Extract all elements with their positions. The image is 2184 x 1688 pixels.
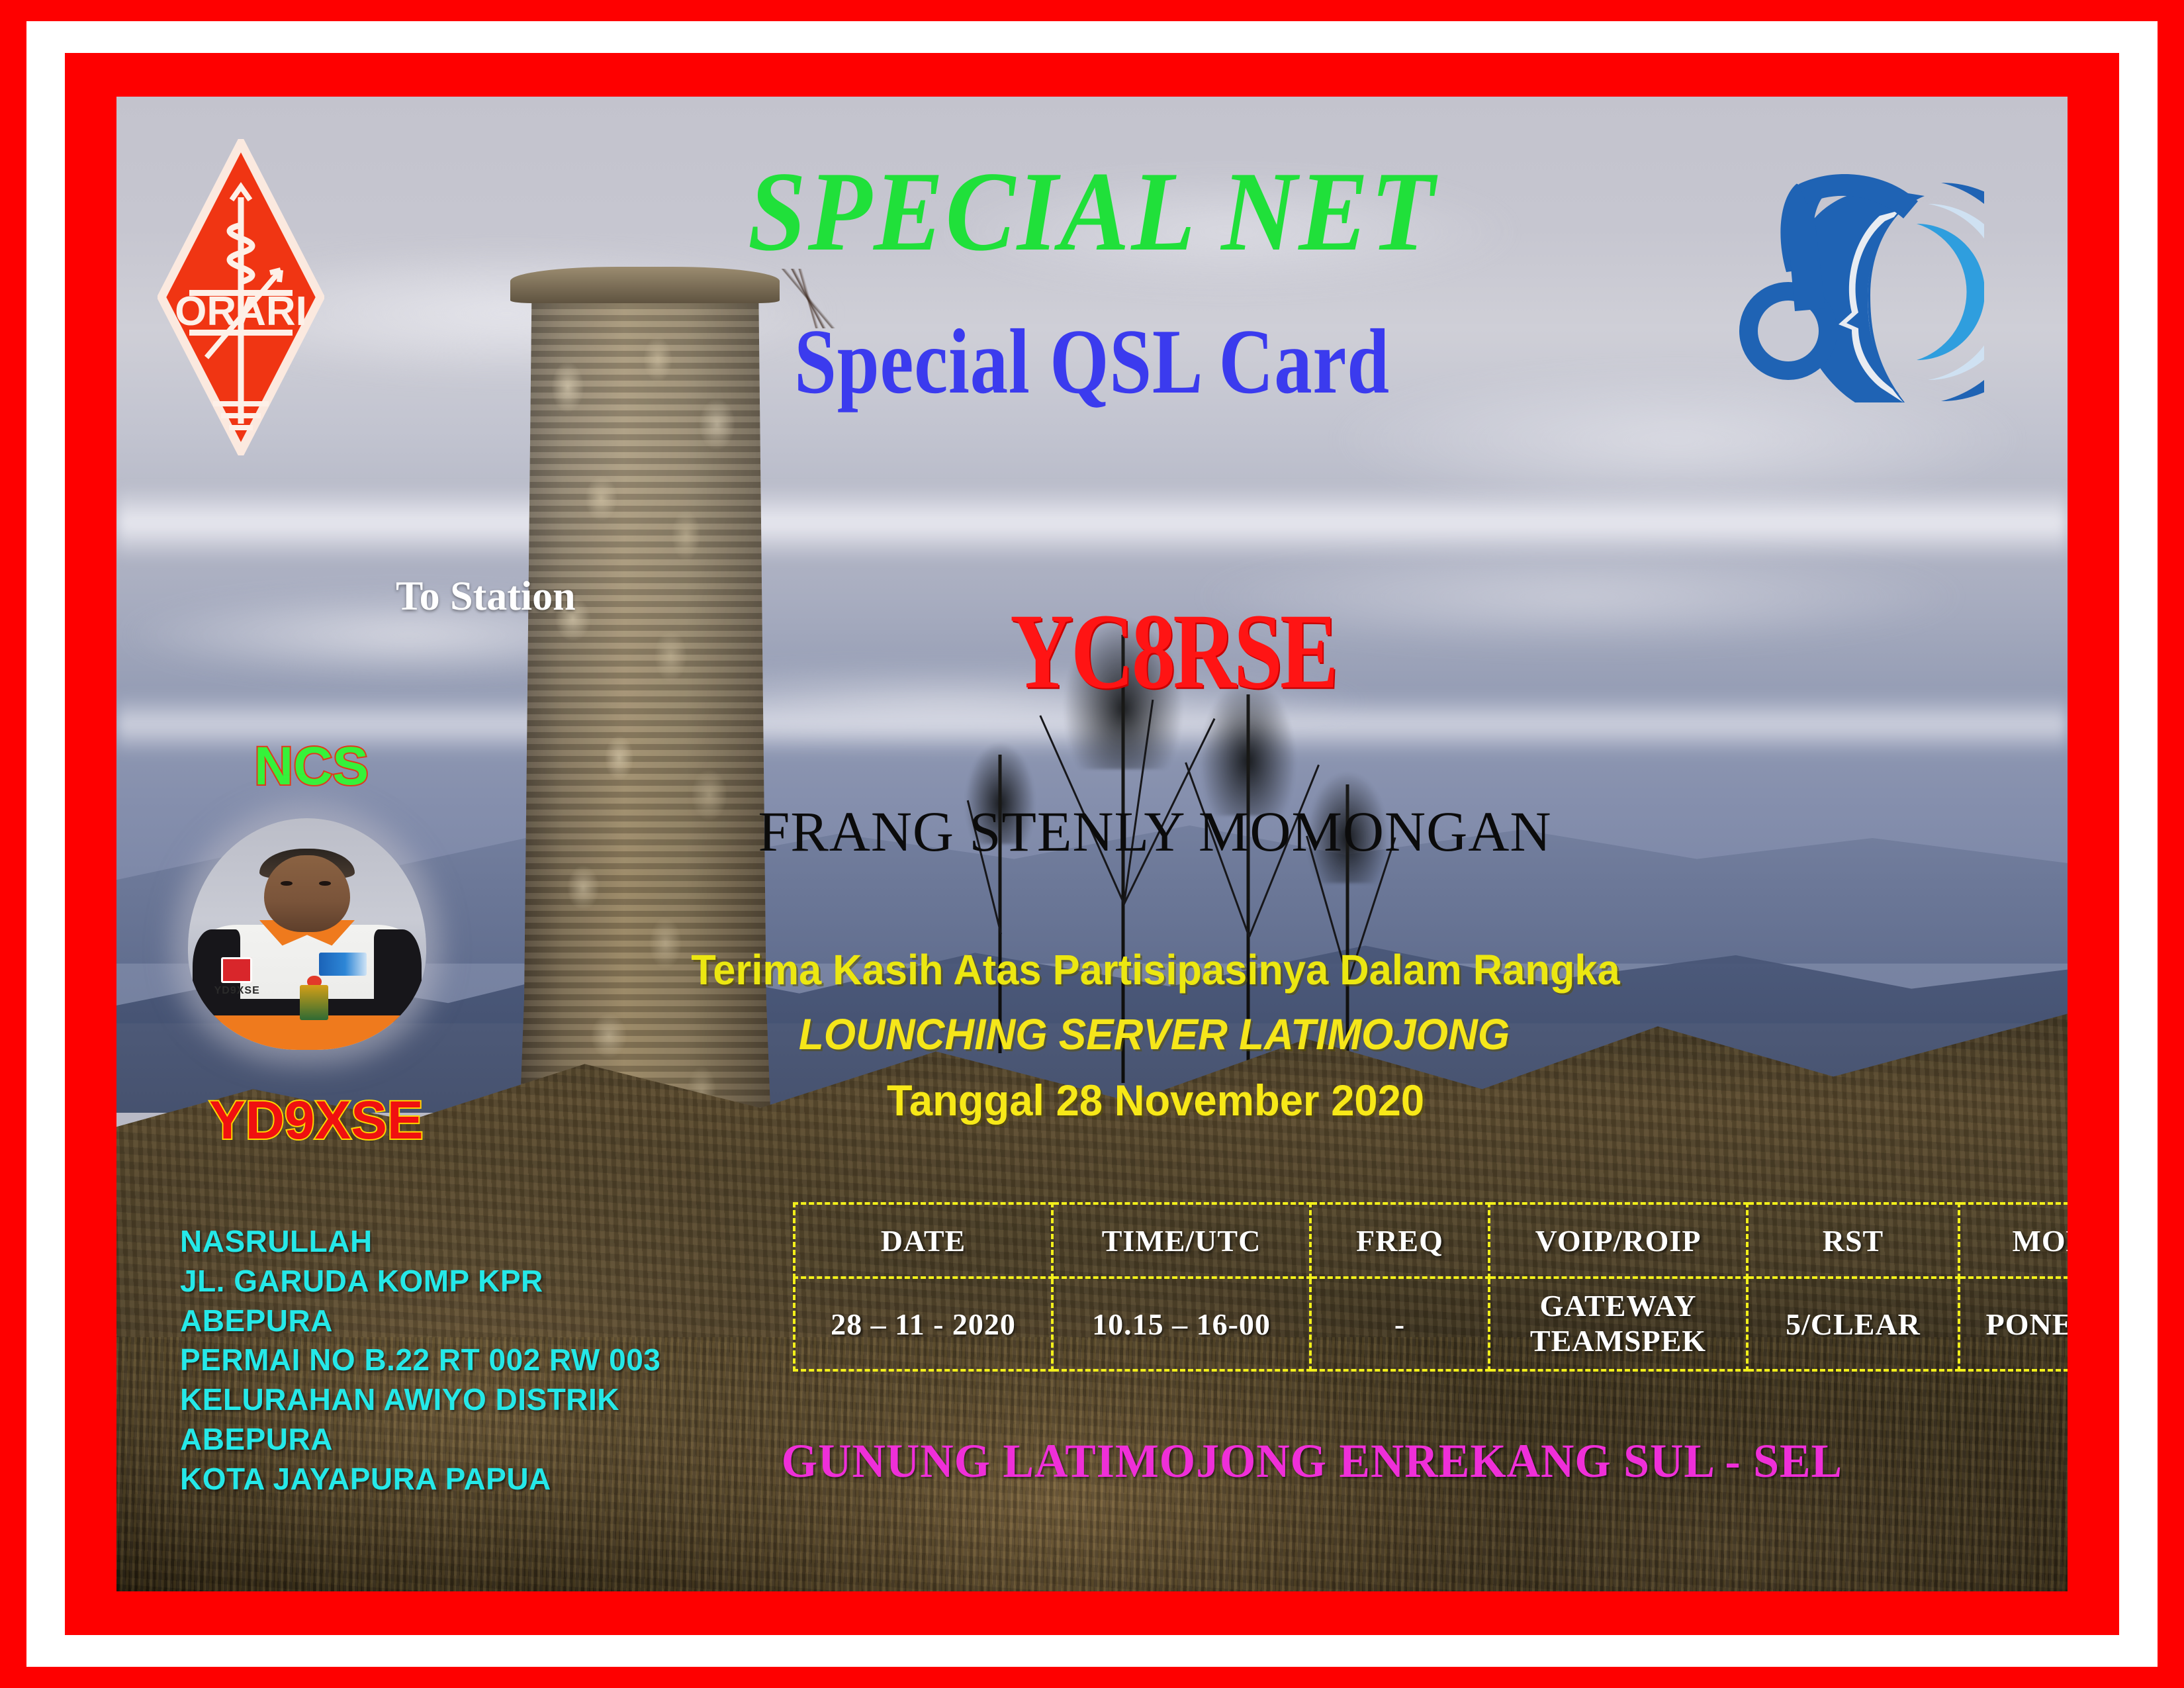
column-header-freq: FREQ [1310, 1203, 1489, 1278]
event-date: Tanggal 28 November 2020 [156, 1075, 2028, 1125]
location-text: GUNUNG LATIMOJONG ENREKANG SUL - SEL [782, 1434, 1843, 1489]
page-subtitle: Special QSL Card [292, 308, 1891, 415]
event-title: LOUNCHING SERVER LATIMOJONG [175, 1009, 2009, 1059]
card-outer-border: ORARI [0, 0, 2184, 1688]
ncs-callsign: YD9XSE [209, 1090, 424, 1152]
table-header-row: DATE TIME/UTC FREQ VOIP/ROIP RST MODE [794, 1203, 2068, 1278]
address-line: KELURAHAN AWIYO DISTRIK [180, 1380, 660, 1420]
uniform-logo [319, 953, 367, 976]
ncs-label: NCS [254, 735, 369, 798]
qso-log-table: DATE TIME/UTC FREQ VOIP/ROIP RST MODE 28… [793, 1202, 2068, 1372]
cell-voip: GATEWAY TEAMSPEK [1489, 1278, 1747, 1370]
table-row: 28 – 11 - 2020 10.15 – 16-00 - GATEWAY T… [794, 1278, 2068, 1370]
column-header-rst: RST [1747, 1203, 1959, 1278]
cell-voip-line2: TEAMSPEK [1490, 1324, 1746, 1359]
cell-time: 10.15 – 16-00 [1052, 1278, 1310, 1370]
address-line: PERMAI NO B.22 RT 002 RW 003 [180, 1340, 660, 1380]
recipient-callsign: YC8RSE [1010, 589, 1336, 714]
cell-freq: - [1310, 1278, 1489, 1370]
uniform-callsign-text: YD9XSE [214, 985, 260, 997]
cell-rst: 5/CLEAR [1747, 1278, 1959, 1370]
address-line: NASRULLAH [180, 1222, 660, 1262]
ncs-operator-photo: YD9XSE [188, 818, 426, 1050]
address-line: ABEPURA [180, 1301, 660, 1341]
thanks-line: Terima Kasih Atas Partisipasinya Dalam R… [156, 945, 2028, 994]
qsl-card: ORARI [116, 97, 2068, 1591]
page-title: SPECIAL NET [195, 147, 1989, 277]
column-header-mode: MODE [1959, 1203, 2068, 1278]
orari-logo-text: ORARI [175, 289, 307, 334]
cell-date: 28 – 11 - 2020 [794, 1278, 1052, 1370]
uniform-patch [221, 957, 252, 983]
id-badge [300, 985, 328, 1020]
column-header-date: DATE [794, 1203, 1052, 1278]
column-header-voip: VOIP/ROIP [1489, 1203, 1747, 1278]
address-line: ABEPURA [180, 1420, 660, 1460]
cell-voip-line1: GATEWAY [1490, 1289, 1746, 1324]
column-header-time: TIME/UTC [1052, 1203, 1310, 1278]
to-station-label: To Station [396, 573, 576, 620]
cell-mode: PONE/CW [1959, 1278, 2068, 1370]
address-line: KOTA JAYAPURA PAPUA [180, 1460, 660, 1499]
card-inner-border: ORARI [65, 53, 2119, 1635]
address-line: JL. GARUDA KOMP KPR [180, 1262, 660, 1301]
mailing-address: NASRULLAH JL. GARUDA KOMP KPR ABEPURA PE… [180, 1222, 660, 1499]
card-white-gap: ORARI [26, 21, 2158, 1667]
